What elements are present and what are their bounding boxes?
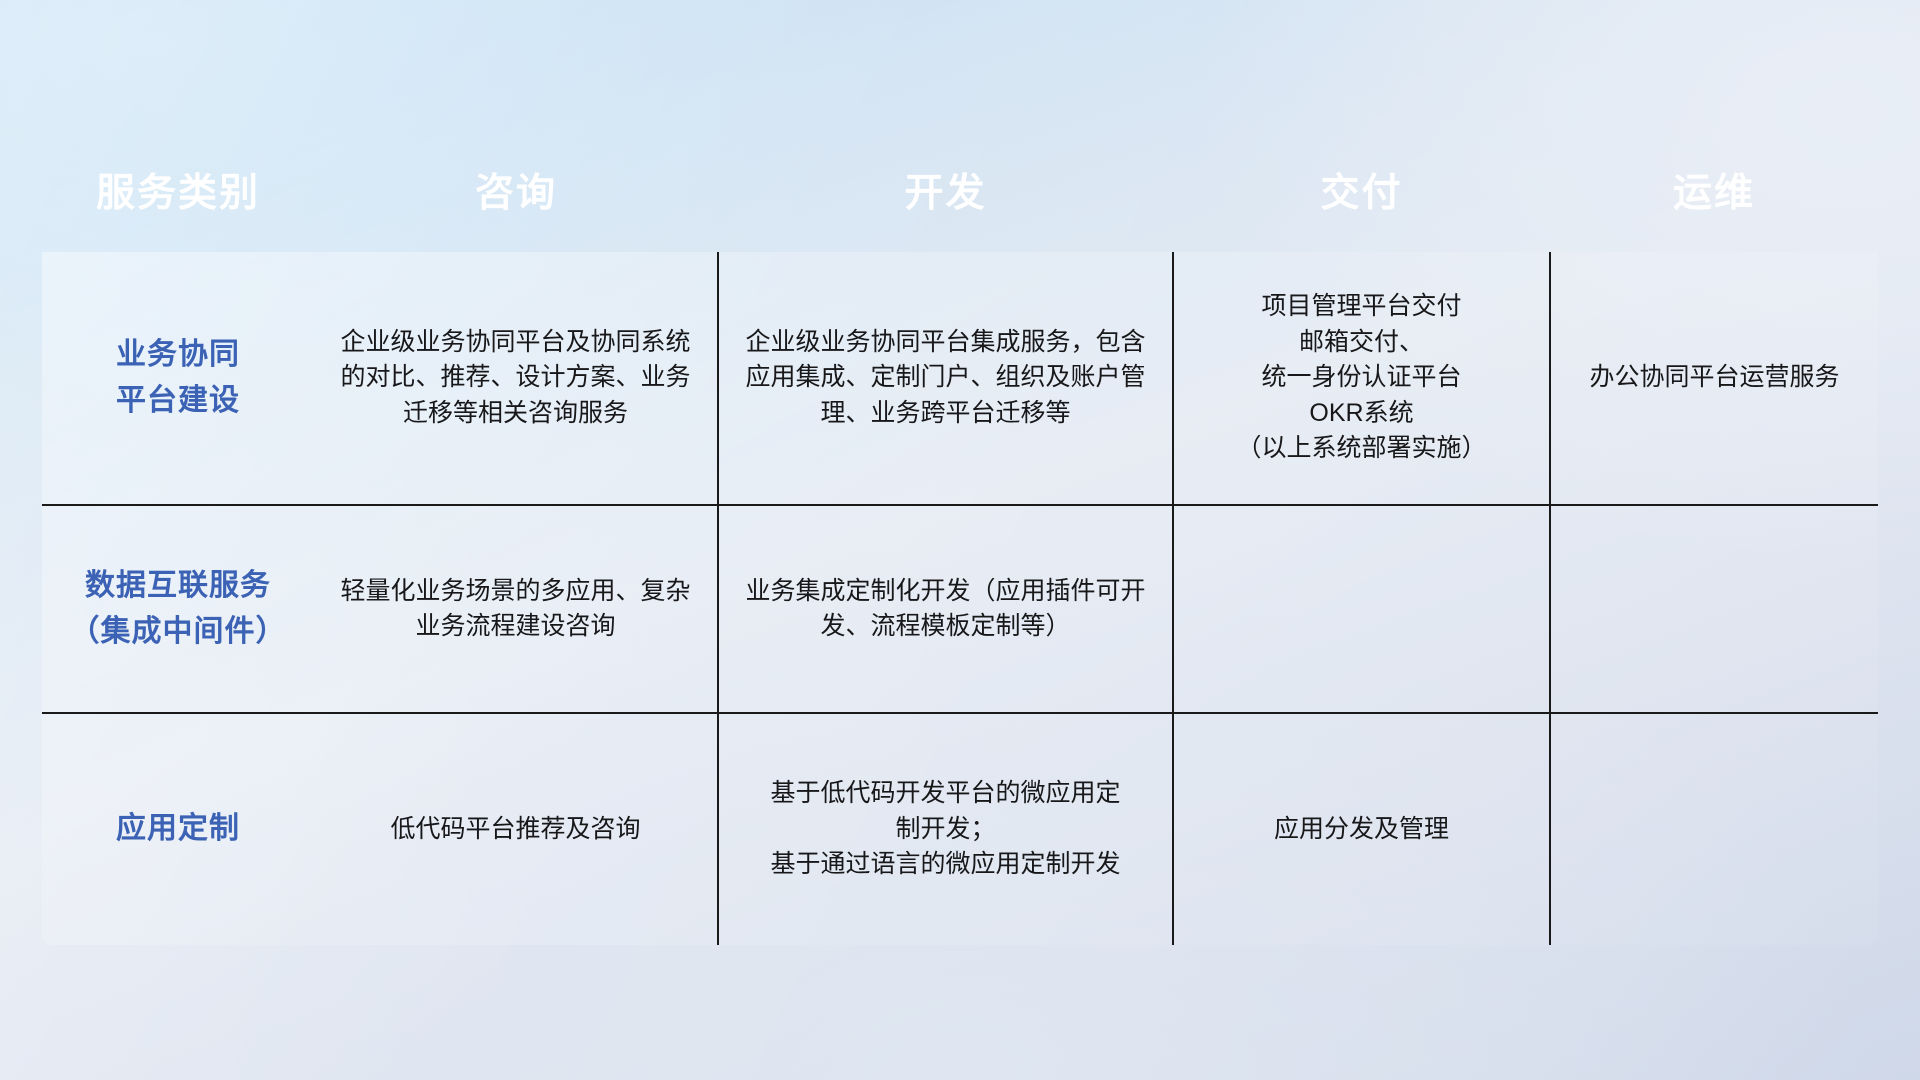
category-line: 应用定制: [60, 806, 296, 853]
cell-operations-row3: [1550, 713, 1878, 945]
cell-category-row1: 业务协同 平台建设: [42, 252, 314, 505]
category-line: 业务协同: [60, 332, 296, 379]
cell-category-row2: 数据互联服务 （集成中间件）: [42, 505, 314, 713]
service-category-table: 服务类别 咨询 开发 交付 运维 业务协同 平台建设 企业级业务协同平台及协同系…: [42, 128, 1878, 945]
table-header: 服务类别 咨询 开发 交付 运维: [42, 128, 1878, 252]
development-line: 制开发；: [737, 812, 1154, 848]
column-header-development: 开发: [718, 128, 1173, 252]
cell-consulting-row1: 企业级业务协同平台及协同系统的对比、推荐、设计方案、业务迁移等相关咨询服务: [314, 252, 718, 505]
table-row: 业务协同 平台建设 企业级业务协同平台及协同系统的对比、推荐、设计方案、业务迁移…: [42, 252, 1878, 505]
category-line: （集成中间件）: [60, 609, 296, 656]
category-line: 数据互联服务: [60, 563, 296, 610]
cell-category-row3: 应用定制: [42, 713, 314, 945]
delivery-line: 邮箱交付、: [1192, 325, 1531, 361]
table-row: 应用定制 低代码平台推荐及咨询 基于低代码开发平台的微应用定 制开发； 基于通过…: [42, 713, 1878, 945]
service-category-table-wrapper: 服务类别 咨询 开发 交付 运维 业务协同 平台建设 企业级业务协同平台及协同系…: [42, 128, 1878, 945]
column-header-consulting: 咨询: [314, 128, 718, 252]
cell-operations-row2: [1550, 505, 1878, 713]
delivery-line: （以上系统部署实施）: [1192, 431, 1531, 467]
delivery-line: OKR系统: [1192, 396, 1531, 432]
table-row: 数据互联服务 （集成中间件） 轻量化业务场景的多应用、复杂业务流程建设咨询 业务…: [42, 505, 1878, 713]
cell-consulting-row2: 轻量化业务场景的多应用、复杂业务流程建设咨询: [314, 505, 718, 713]
delivery-line: 项目管理平台交付: [1192, 289, 1531, 325]
cell-development-row1: 企业级业务协同平台集成服务，包含应用集成、定制门户、组织及账户管理、业务跨平台迁…: [718, 252, 1173, 505]
column-header-operations: 运维: [1550, 128, 1878, 252]
development-line: 基于通过语言的微应用定制开发: [737, 847, 1154, 883]
development-line: 基于低代码开发平台的微应用定: [737, 776, 1154, 812]
cell-development-row2: 业务集成定制化开发（应用插件可开发、流程模板定制等）: [718, 505, 1173, 713]
column-header-service-category: 服务类别: [42, 128, 314, 252]
cell-delivery-row1: 项目管理平台交付 邮箱交付、 统一身份认证平台 OKR系统 （以上系统部署实施）: [1173, 252, 1550, 505]
cell-consulting-row3: 低代码平台推荐及咨询: [314, 713, 718, 945]
table-body: 业务协同 平台建设 企业级业务协同平台及协同系统的对比、推荐、设计方案、业务迁移…: [42, 252, 1878, 945]
cell-operations-row1: 办公协同平台运营服务: [1550, 252, 1878, 505]
cell-development-row3: 基于低代码开发平台的微应用定 制开发； 基于通过语言的微应用定制开发: [718, 713, 1173, 945]
page-root: 服务类别 咨询 开发 交付 运维 业务协同 平台建设 企业级业务协同平台及协同系…: [0, 0, 1920, 1080]
cell-delivery-row2: [1173, 505, 1550, 713]
column-header-delivery: 交付: [1173, 128, 1550, 252]
cell-delivery-row3: 应用分发及管理: [1173, 713, 1550, 945]
category-line: 平台建设: [60, 378, 296, 425]
table-header-row: 服务类别 咨询 开发 交付 运维: [42, 128, 1878, 252]
delivery-line: 统一身份认证平台: [1192, 360, 1531, 396]
